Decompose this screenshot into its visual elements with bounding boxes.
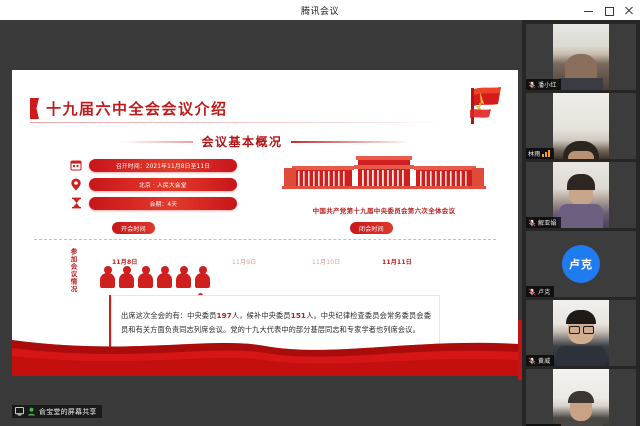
timeline-date-2: 11月9日 xyxy=(232,257,256,266)
attendee-figure-icon xyxy=(157,266,172,288)
info-pill-location: 北京 · 人民大会堂 xyxy=(89,178,237,191)
participant-name-badge: 林雨 xyxy=(526,148,554,159)
calendar-icon xyxy=(69,158,83,172)
attendee-figures-group xyxy=(100,266,210,288)
mic-muted-icon xyxy=(528,81,536,89)
info-row-location: 北京 · 人民大会堂 xyxy=(69,177,237,191)
great-hall-caption: 中国共产党第十九届中央委员会第六次全体会议 xyxy=(270,205,498,215)
para-part-1: 出席这次全会的有：中央委员 xyxy=(121,311,217,320)
mic-muted-icon xyxy=(528,219,536,227)
participant-video xyxy=(553,369,609,426)
participant-tile[interactable]: 卢克 卢克 xyxy=(526,231,636,297)
mic-muted-icon xyxy=(528,357,536,365)
para-number-2: 151 xyxy=(291,311,306,320)
para-part-2: 人，候补中央委员 xyxy=(232,311,291,320)
presenter-icon xyxy=(27,407,36,416)
title-underline xyxy=(30,122,448,123)
slide-bottom-ribbon xyxy=(12,334,518,376)
timeline-badges: 开会时间 闭会时间 xyxy=(34,222,496,236)
flag-marker-icon xyxy=(30,98,39,119)
participant-tile[interactable]: 解亚娟 xyxy=(526,162,636,228)
party-flag-torch-emblem xyxy=(458,84,504,128)
attendee-figure-icon xyxy=(195,266,210,288)
screen-share-label: 俞宝堂的屏幕共享 xyxy=(39,407,97,417)
participant-name-badge: 解亚娟 xyxy=(526,217,561,228)
maximize-button[interactable] xyxy=(603,5,614,16)
info-row-duration: 会期：4天 xyxy=(69,196,237,210)
avatar: 卢克 xyxy=(562,245,600,283)
participants-sidebar[interactable]: 潘小红 林雨 xyxy=(522,20,640,426)
participant-tile[interactable]: 林雨 xyxy=(526,93,636,159)
section-rule-left xyxy=(119,141,193,143)
participant-name-badge: 卢克 xyxy=(526,286,554,297)
info-row-date: 召开时间：2021年11月8日至11日 xyxy=(69,158,237,172)
info-pill-duration: 会期：4天 xyxy=(89,197,237,210)
timeline-badge-start: 开会时间 xyxy=(112,222,155,234)
participant-name: 林雨 xyxy=(528,149,540,158)
timeline-date-1: 11月8日 xyxy=(112,257,138,266)
great-hall-of-the-people-icon xyxy=(270,152,498,198)
mic-muted-icon xyxy=(528,288,536,296)
window-controls xyxy=(583,0,634,20)
meeting-timeline: 开会时间 闭会时间 11月8日 11月9日 11月10日 11月11日 xyxy=(34,222,496,270)
participant-video xyxy=(553,162,609,228)
attendee-figure-icon xyxy=(138,266,153,288)
slide-title: 十九届六中全会会议介绍 xyxy=(46,98,228,119)
meeting-info-list: 召开时间：2021年11月8日至11日 北京 · 人民大会堂 xyxy=(69,158,237,215)
avatar-initials: 卢克 xyxy=(569,256,593,272)
signal-bars-icon xyxy=(542,150,550,157)
shared-slide: 十九届六中全会会议介绍 会议基本概况 xyxy=(12,70,518,376)
slide-title-group: 十九届六中全会会议介绍 xyxy=(30,98,228,119)
info-pill-date: 召开时间：2021年11月8日至11日 xyxy=(89,159,237,172)
participant-name-badge: 潘小红 xyxy=(526,79,561,90)
participant-name: 解亚娟 xyxy=(538,218,557,227)
close-button[interactable] xyxy=(623,5,634,16)
para-number-1: 197 xyxy=(217,311,232,320)
timeline-badge-end: 闭会时间 xyxy=(350,222,393,234)
screen-share-icon xyxy=(15,407,24,416)
app-title: 腾讯会议 xyxy=(301,4,339,17)
participant-video xyxy=(553,300,609,366)
stage-left-strip xyxy=(0,20,12,426)
participant-tile[interactable]: 卞志勇 xyxy=(526,369,636,426)
participant-tile[interactable]: 潘小红 xyxy=(526,24,636,90)
screen-share-indicator: 俞宝堂的屏幕共享 xyxy=(12,405,102,418)
timeline-date-3: 11月10日 xyxy=(312,257,340,266)
participant-name: 卢克 xyxy=(538,287,550,296)
attendance-side-label: 参加会议情况 xyxy=(64,248,77,293)
participant-name-badge: 黄威 xyxy=(526,355,554,366)
timeline-date-4: 11月11日 xyxy=(382,257,412,266)
section-heading: 会议基本概况 xyxy=(12,133,518,150)
section-title: 会议基本概况 xyxy=(201,133,282,150)
participant-video xyxy=(553,24,609,90)
great-hall-illustration-group: 中国共产党第十九届中央委员会第六次全体会议 xyxy=(270,152,498,215)
section-rule-right xyxy=(291,141,411,143)
minimize-button[interactable] xyxy=(583,5,594,16)
tencent-meeting-window: 腾讯会议 十九届六中全会会议介绍 xyxy=(0,0,640,426)
attendee-figure-icon xyxy=(100,266,115,288)
location-pin-icon xyxy=(69,177,83,191)
participant-name: 潘小红 xyxy=(538,80,557,89)
hourglass-icon xyxy=(69,196,83,210)
participant-name: 黄威 xyxy=(538,356,550,365)
attendee-figure-icon xyxy=(119,266,134,288)
attendee-figure-icon xyxy=(176,266,191,288)
participant-video xyxy=(553,93,609,159)
participant-tile[interactable]: 黄威 xyxy=(526,300,636,366)
title-bar: 腾讯会议 xyxy=(0,0,640,20)
timeline-rule xyxy=(34,239,496,240)
